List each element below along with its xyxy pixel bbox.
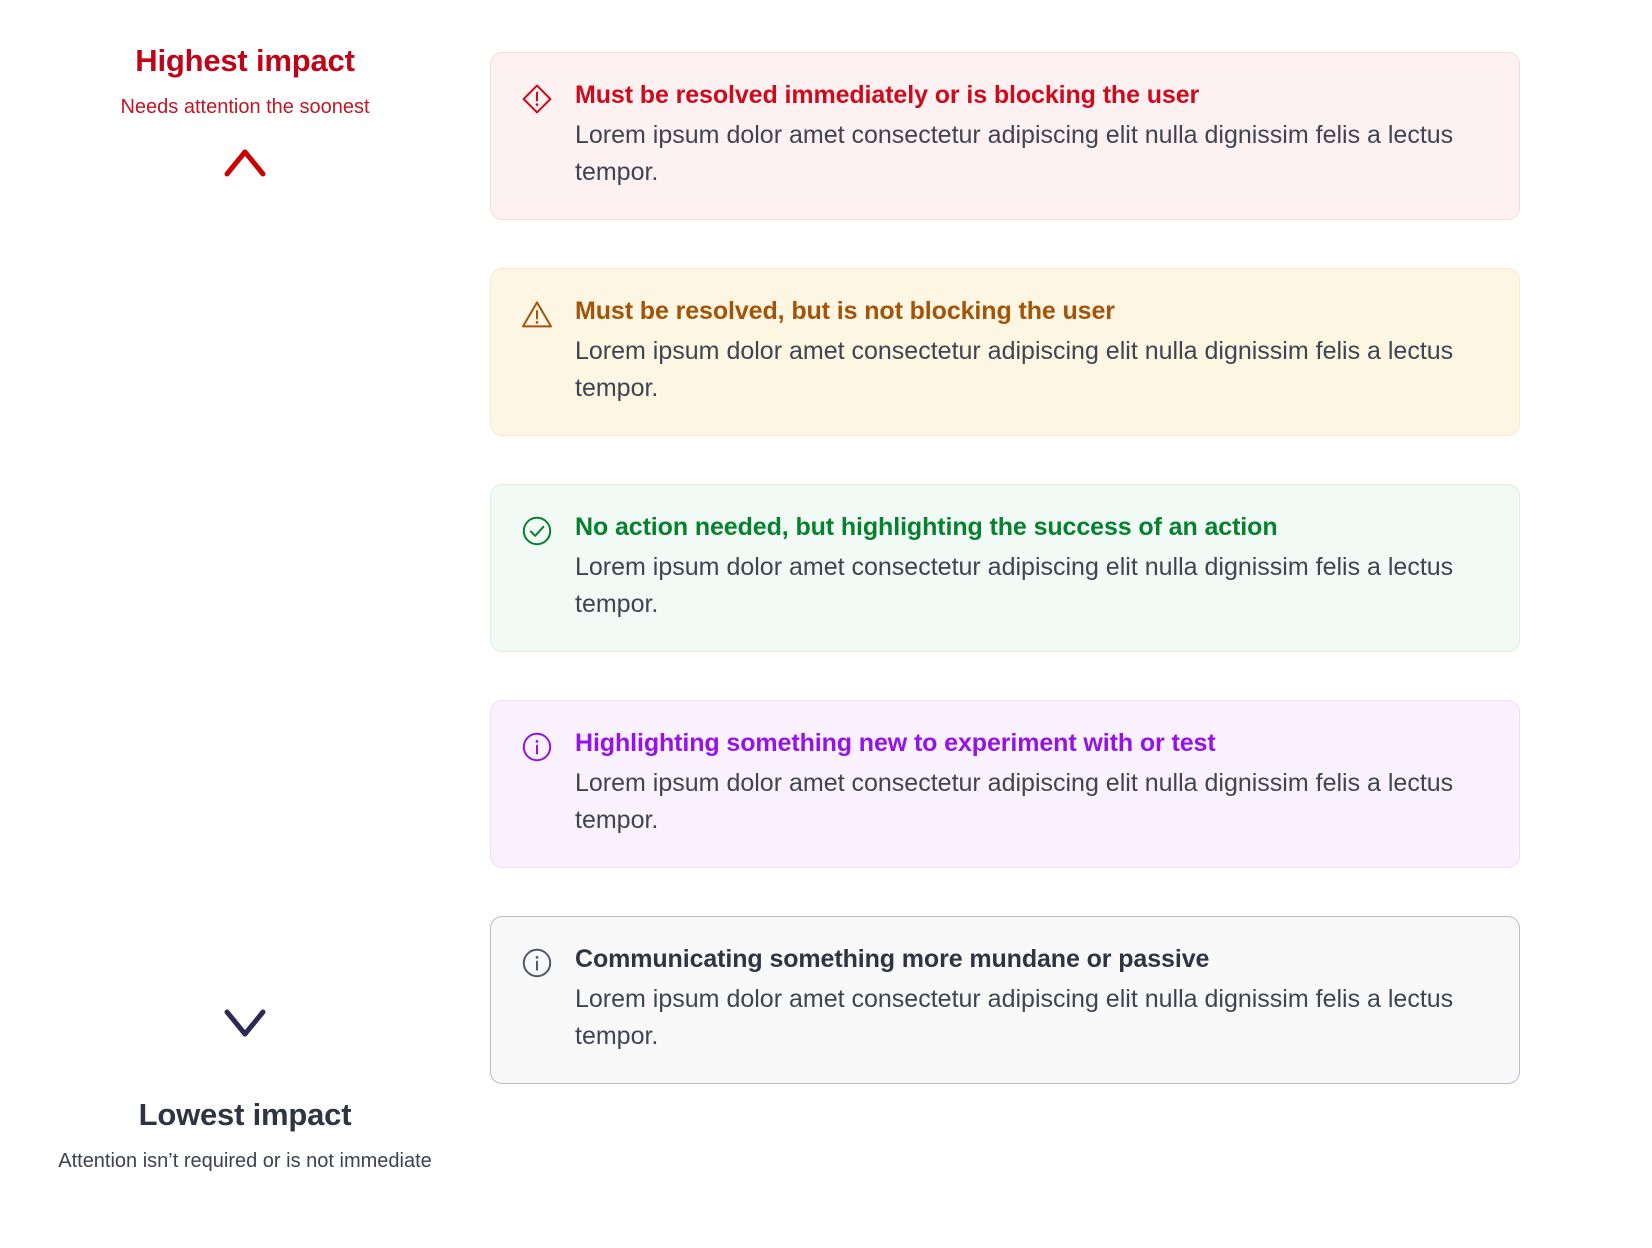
alert-card-neutral: Communicating something more mundane or …	[490, 916, 1520, 1084]
alert-description: Lorem ipsum dolor amet consectetur adipi…	[575, 765, 1475, 839]
impact-gradient-arrow	[0, 148, 490, 1038]
lowest-impact-subtitle: Attention isn’t required or is not immed…	[0, 1149, 490, 1174]
alert-body: Must be resolved immediately or is block…	[575, 79, 1489, 191]
circle-check-icon	[521, 515, 553, 547]
gradient-arrow-icon	[215, 148, 275, 1038]
info-circle-icon	[521, 947, 553, 979]
alert-card-success: No action needed, but highlighting the s…	[490, 484, 1520, 652]
lowest-impact-title: Lowest impact	[0, 1096, 490, 1133]
alert-card-new: Highlighting something new to experiment…	[490, 700, 1520, 868]
alert-body: No action needed, but highlighting the s…	[575, 511, 1489, 623]
impact-scale-column: Highest impact Needs attention the soone…	[0, 0, 490, 1248]
alert-description: Lorem ipsum dolor amet consectetur adipi…	[575, 549, 1475, 623]
alert-title: Highlighting something new to experiment…	[575, 727, 1489, 759]
alert-body: Must be resolved, but is not blocking th…	[575, 295, 1489, 407]
alert-description: Lorem ipsum dolor amet consectetur adipi…	[575, 333, 1475, 407]
alert-cards-column: Must be resolved immediately or is block…	[490, 0, 1652, 1248]
impact-scale-page: Highest impact Needs attention the soone…	[0, 0, 1652, 1248]
alert-title: No action needed, but highlighting the s…	[575, 511, 1489, 543]
diamond-exclamation-icon	[521, 83, 553, 115]
alert-description: Lorem ipsum dolor amet consectetur adipi…	[575, 117, 1475, 191]
alert-card-warning: Must be resolved, but is not blocking th…	[490, 268, 1520, 436]
lowest-impact-label-group: Lowest impact Attention isn’t required o…	[0, 1096, 490, 1174]
info-circle-icon	[521, 731, 553, 763]
alert-title: Must be resolved, but is not blocking th…	[575, 295, 1489, 327]
alert-card-critical: Must be resolved immediately or is block…	[490, 52, 1520, 220]
highest-impact-subtitle: Needs attention the soonest	[0, 95, 490, 120]
alert-description: Lorem ipsum dolor amet consectetur adipi…	[575, 981, 1475, 1055]
alert-title: Must be resolved immediately or is block…	[575, 79, 1489, 111]
alert-body: Communicating something more mundane or …	[575, 943, 1489, 1055]
highest-impact-title: Highest impact	[0, 42, 490, 79]
alert-body: Highlighting something new to experiment…	[575, 727, 1489, 839]
highest-impact-label-group: Highest impact Needs attention the soone…	[0, 42, 490, 120]
warning-triangle-icon	[521, 299, 553, 331]
alert-title: Communicating something more mundane or …	[575, 943, 1489, 975]
